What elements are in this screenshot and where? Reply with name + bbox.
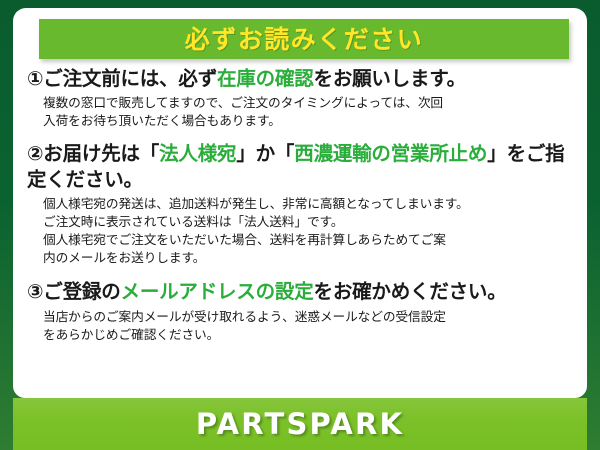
notice-card: 必ずお読みください ①ご注文前には、必ず在庫の確認をお願いします。 複数の窓口で… bbox=[0, 0, 600, 450]
notice-item-3-body: 当店からのご案内メールが受け取れるよう、迷惑メールなどの受信設定をあらかじめご確… bbox=[43, 308, 575, 344]
notice-item-2-body: 個人様宅宛の発送は、追加送料が発生し、非常に高額となってしまいます。ご注文時に表… bbox=[43, 195, 575, 267]
notice-items-list: ①ご注文前には、必ず在庫の確認をお願いします。 複数の窓口で販売してますので、ご… bbox=[23, 65, 577, 394]
notice-item-1: ①ご注文前には、必ず在庫の確認をお願いします。 複数の窓口で販売してますので、ご… bbox=[27, 66, 575, 130]
notice-item-1-heading: ①ご注文前には、必ず在庫の確認をお願いします。 bbox=[27, 66, 575, 91]
notice-item-3: ③ご登録のメールアドレスの設定をお確かめください。 当店からのご案内メールが受け… bbox=[27, 279, 575, 343]
notice-item-1-body: 複数の窓口で販売してますので、ご注文のタイミングによっては、次回入荷をお待ち頂い… bbox=[43, 94, 575, 130]
header-banner: 必ずお読みください bbox=[39, 19, 569, 59]
notice-item-3-heading: ③ご登録のメールアドレスの設定をお確かめください。 bbox=[27, 279, 575, 304]
notice-item-2: ②お届け先は「法人様宛」か「西濃運輸の営業所止め」をご指定ください。 個人様宅宛… bbox=[27, 141, 575, 267]
notice-item-2-heading: ②お届け先は「法人様宛」か「西濃運輸の営業所止め」をご指定ください。 bbox=[27, 141, 575, 192]
footer-brand-bar: PARTSPARK bbox=[13, 398, 587, 450]
brand-logo-text: PARTSPARK bbox=[196, 410, 404, 439]
notice-panel: 必ずお読みください ①ご注文前には、必ず在庫の確認をお願いします。 複数の窓口で… bbox=[13, 8, 587, 398]
page-title: 必ずお読みください bbox=[185, 27, 424, 52]
